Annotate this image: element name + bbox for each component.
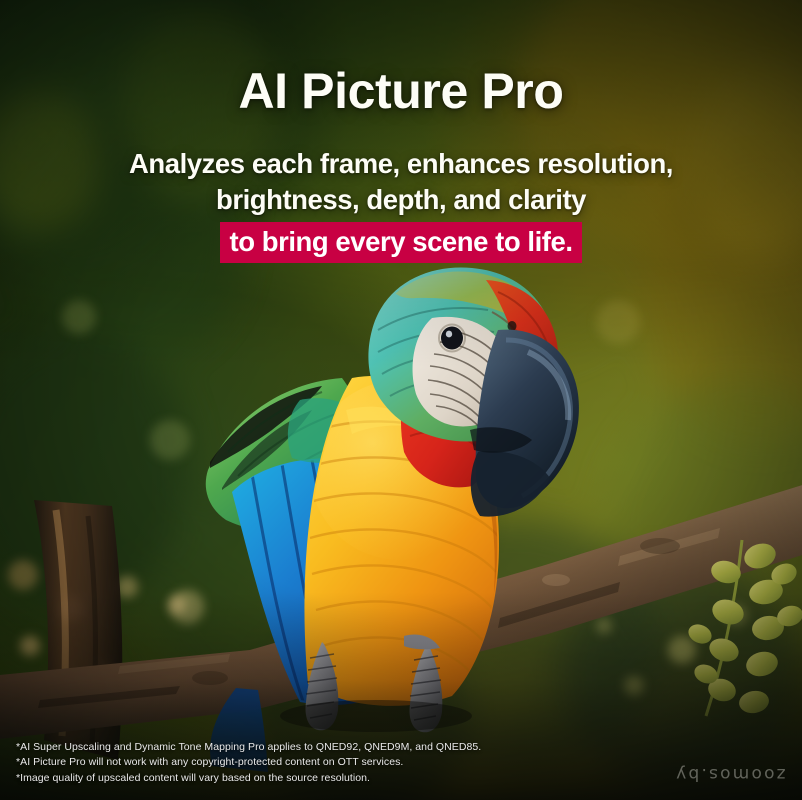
- disclaimer-line-2: *AI Picture Pro will not work with any c…: [16, 755, 481, 771]
- footer-disclaimers: *AI Super Upscaling and Dynamic Tone Map…: [16, 740, 481, 787]
- subheading: Analyzes each frame, enhances resolution…: [0, 116, 802, 263]
- poster-root: AI Picture Pro Analyzes each frame, enha…: [0, 0, 802, 800]
- subheading-line-1: Analyzes each frame, enhances resolution…: [0, 146, 802, 182]
- subheading-line-2: brightness, depth, and clarity: [0, 182, 802, 218]
- watermark-zoomos: zoomos.by: [674, 764, 786, 784]
- parrot-eye: [439, 325, 465, 352]
- headline-block: AI Picture Pro Analyzes each frame, enha…: [0, 66, 802, 263]
- disclaimer-line-1: *AI Super Upscaling and Dynamic Tone Map…: [16, 740, 481, 756]
- highlight-badge: to bring every scene to life.: [220, 222, 581, 264]
- subheading-highlight-line: to bring every scene to life.: [0, 218, 802, 264]
- page-title: AI Picture Pro: [0, 66, 802, 116]
- disclaimer-line-3: *Image quality of upscaled content will …: [16, 771, 481, 787]
